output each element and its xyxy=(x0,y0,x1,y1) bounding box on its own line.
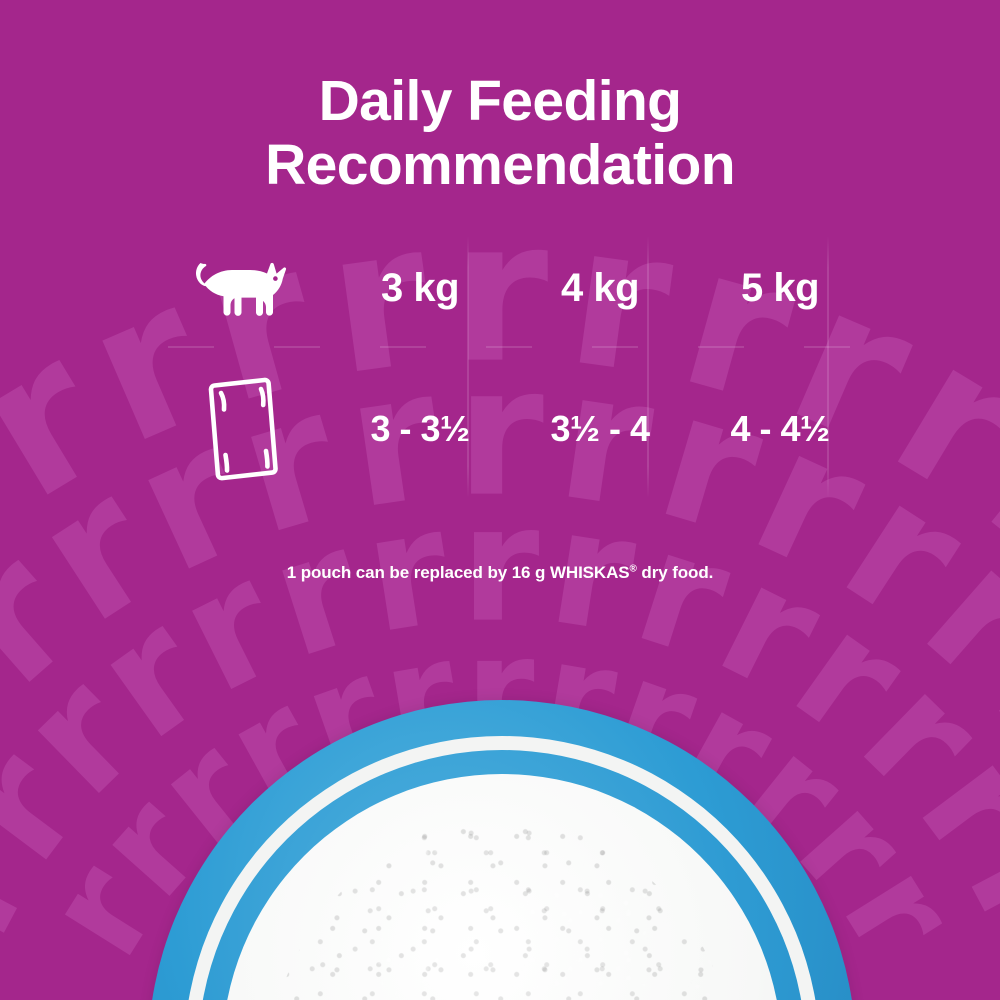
purr-letter: r xyxy=(958,820,1000,948)
purr-letter: r xyxy=(8,664,152,808)
cat-weight-value-2: 4 kg xyxy=(510,240,690,336)
purr-letter: r xyxy=(878,330,1000,511)
page-title-line-2: Recommendation xyxy=(0,134,1000,198)
pouch-icon xyxy=(192,373,288,485)
purr-letter: r xyxy=(849,664,993,808)
purr-letter: r xyxy=(22,470,171,634)
table-row-pouch-amount: 3 - 3½ 3½ - 4 4 - 4½ xyxy=(150,364,870,494)
food-shading-overlay xyxy=(260,818,744,1000)
feeding-recommendation-panel: rrrrrrrrrrrrrrrrrrrrrrrrrrrrrrrrrrrrrrrr… xyxy=(0,0,1000,1000)
purr-letter: r xyxy=(0,820,42,948)
purr-letter: r xyxy=(0,400,28,580)
purr-letter: r xyxy=(37,853,166,969)
page-title-line-1: Daily Feeding xyxy=(0,70,1000,134)
cat-weight-value-3: 5 kg xyxy=(690,240,870,336)
footnote-text-before: 1 pouch can be replaced by 16 g WHISKAS xyxy=(287,563,630,582)
purr-letter: r xyxy=(0,737,92,875)
footnote-text: 1 pouch can be replaced by 16 g WHISKAS®… xyxy=(0,563,1000,583)
table-row-cat-weight: 3 kg 4 kg 5 kg xyxy=(150,240,870,336)
purr-letter: r xyxy=(0,536,90,698)
pouch-amount-value-3: 4 - 4½ xyxy=(690,364,870,494)
pouch-icon-cell xyxy=(150,364,330,494)
feeding-table: 3 kg 4 kg 5 kg 3 - 3½ 3½ - 4 4 - 4½ xyxy=(150,212,870,522)
page-title: Daily Feeding Recommendation xyxy=(0,70,1000,198)
product-bowl-image xyxy=(148,700,856,1000)
cat-weight-value-1: 3 kg xyxy=(330,240,510,336)
grid-divider-horizontal xyxy=(168,346,854,348)
purr-letter: r xyxy=(260,522,373,665)
registered-mark: ® xyxy=(630,563,637,574)
purr-letter: r xyxy=(972,400,1000,580)
purr-letter: r xyxy=(910,536,1000,698)
cat-icon-cell xyxy=(150,240,330,336)
purr-letter: r xyxy=(908,737,1000,875)
pouch-amount-value-2: 3½ - 4 xyxy=(510,364,690,494)
purr-letter: r xyxy=(0,330,122,511)
footnote-text-after: dry food. xyxy=(637,563,713,582)
cat-food-chunks xyxy=(260,818,744,1000)
purr-letter: r xyxy=(627,522,740,665)
purr-letter: r xyxy=(0,614,18,771)
cat-icon xyxy=(192,257,288,319)
pouch-amount-value-1: 3 - 3½ xyxy=(330,364,510,494)
purr-letter: r xyxy=(982,614,1000,771)
